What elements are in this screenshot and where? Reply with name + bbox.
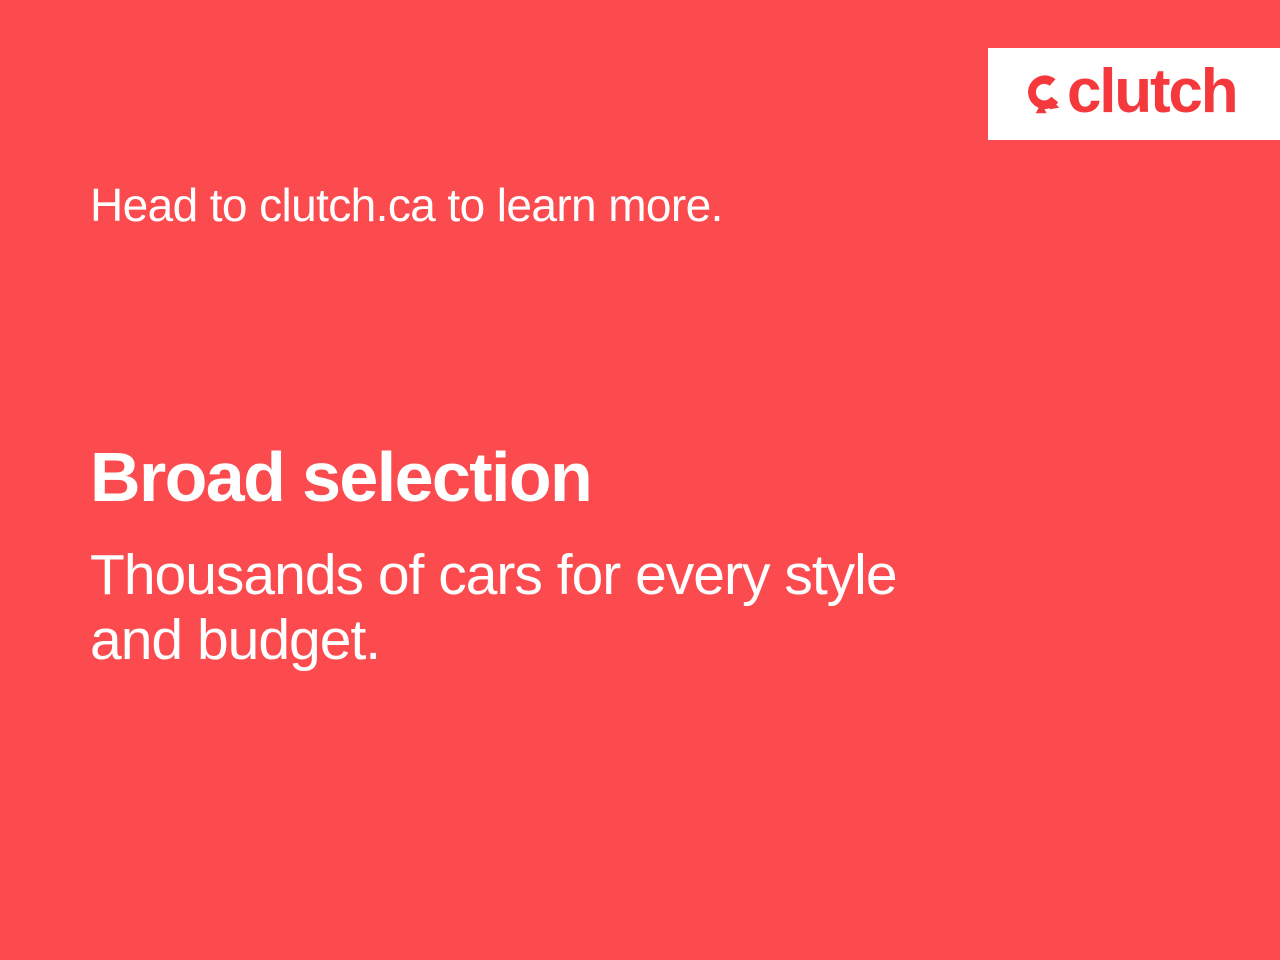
subheading-line-2: and budget. bbox=[90, 608, 1040, 673]
subheading: Thousands of cars for every style and bu… bbox=[90, 543, 1040, 673]
subheading-line-1: Thousands of cars for every style bbox=[90, 543, 1040, 608]
brand-lockup: clutch bbox=[1018, 63, 1236, 125]
promo-slide: clutch Head to clutch.ca to learn more. … bbox=[0, 0, 1280, 960]
clutch-c-mark-icon bbox=[1018, 69, 1064, 119]
brand-logo-plate: clutch bbox=[988, 48, 1280, 140]
brand-wordmark: clutch bbox=[1067, 61, 1236, 123]
page-title: Broad selection bbox=[90, 440, 591, 516]
eyebrow-text: Head to clutch.ca to learn more. bbox=[90, 180, 723, 231]
